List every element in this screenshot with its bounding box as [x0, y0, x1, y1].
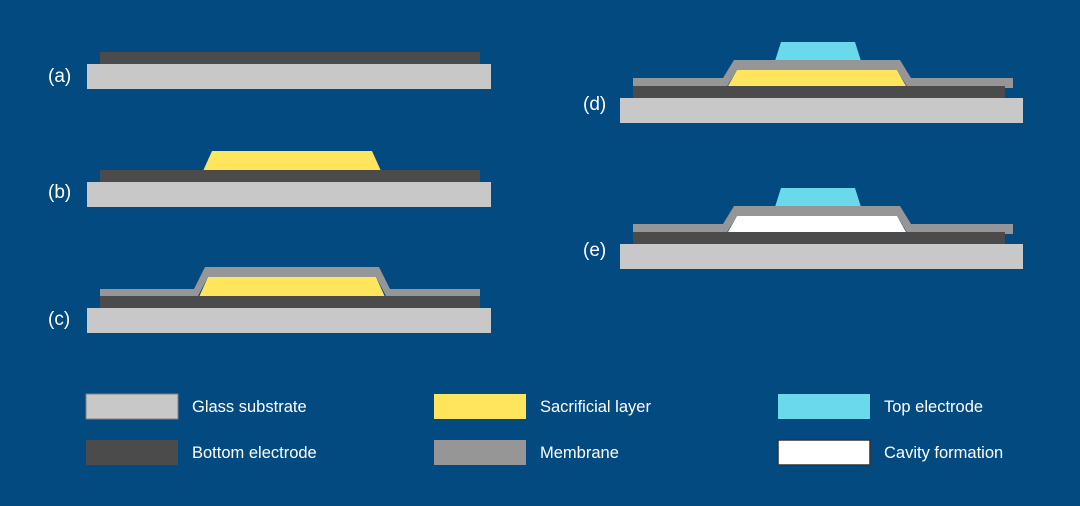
panel-d-bottom-electrode	[633, 86, 1005, 98]
legend-swatch-sacrificial-layer	[434, 394, 526, 419]
legend-label-cavity-formation: Cavity formation	[884, 444, 1003, 462]
panel-d-glass-substrate	[620, 98, 1023, 123]
panel-b-bottom-electrode	[100, 170, 480, 182]
legend-label-sacrificial-layer: Sacrificial layer	[540, 398, 651, 416]
panel-c-bottom-electrode	[100, 296, 480, 308]
panel-a-glass-substrate	[87, 64, 491, 89]
panel-e-top-electrode	[775, 188, 861, 207]
panel-d-sacrificial-layer	[728, 70, 906, 86]
panel-a: (a)	[48, 52, 491, 89]
panel-d-label: (d)	[583, 94, 606, 115]
panel-e-cavity	[728, 216, 906, 232]
process-flow-figure: (a) (b) (c) (d) (e)	[0, 0, 1080, 506]
panel-a-label: (a)	[48, 66, 71, 87]
legend-swatch-cavity-formation	[778, 440, 870, 465]
panel-e-glass-substrate	[620, 244, 1023, 269]
legend-label-top-electrode: Top electrode	[884, 398, 983, 416]
panel-e-label: (e)	[583, 240, 606, 261]
legend-label-membrane: Membrane	[540, 444, 619, 462]
legend-swatch-glass-substrate	[86, 394, 178, 419]
panel-c-label: (c)	[48, 309, 70, 330]
panel-c-sacrificial-layer	[199, 277, 385, 297]
panel-b-glass-substrate	[87, 182, 491, 207]
legend-swatch-bottom-electrode	[86, 440, 178, 465]
panel-a-bottom-electrode	[100, 52, 480, 64]
panel-e-bottom-electrode	[633, 232, 1005, 244]
legend-swatch-top-electrode	[778, 394, 870, 419]
panel-b-label: (b)	[48, 182, 71, 203]
panel-c-glass-substrate	[87, 308, 491, 333]
legend-label-glass-substrate: Glass substrate	[192, 398, 307, 416]
legend-label-bottom-electrode: Bottom electrode	[192, 444, 317, 462]
legend-swatch-membrane	[434, 440, 526, 465]
panel-d-top-electrode	[775, 42, 861, 61]
panel-b-sacrificial-layer	[203, 151, 381, 171]
